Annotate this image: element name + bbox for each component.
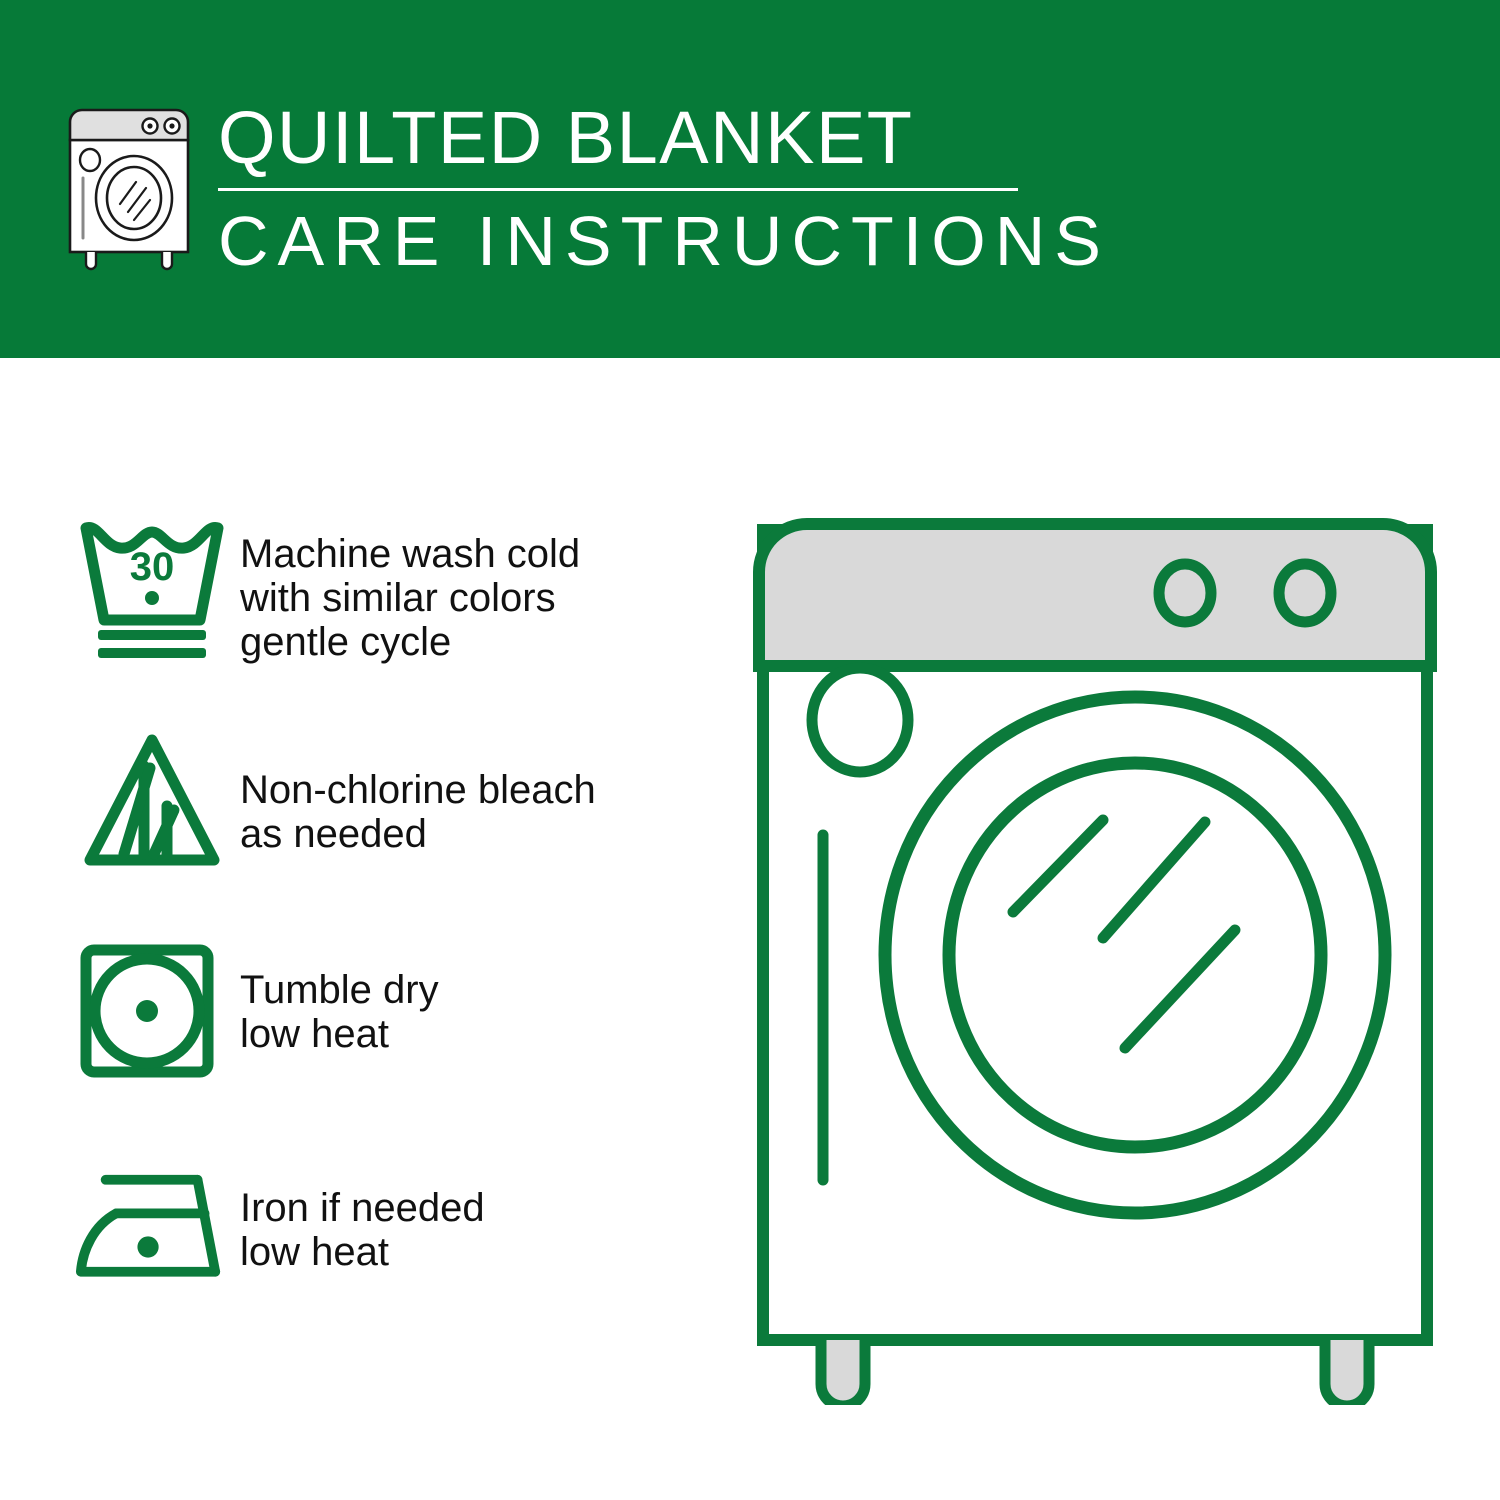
care-row-machine-wash: 30 Machine wash cold with similar colors… [72, 512, 712, 664]
front-load-washing-machine-illustration [745, 500, 1445, 1405]
header-content: QUILTED BLANKET CARE INSTRUCTIONS [62, 96, 1110, 279]
care-text-machine-wash: Machine wash cold with similar colors ge… [240, 512, 712, 664]
care-row-iron: Iron if needed low heat [72, 1154, 712, 1304]
leg-left [821, 1340, 865, 1405]
header-banner: QUILTED BLANKET CARE INSTRUCTIONS [0, 0, 1500, 358]
care-instructions-infographic: QUILTED BLANKET CARE INSTRUCTIONS 30 [0, 0, 1500, 1500]
washing-machine-icon [62, 104, 196, 272]
care-text-iron: Iron if needed low heat [240, 1154, 712, 1274]
page-title-primary: QUILTED BLANKET [218, 96, 1110, 180]
bleach-triangle-stripes-icon [72, 726, 240, 876]
wash-temperature-label: 30 [130, 545, 175, 589]
iron-low-heat-icon [72, 1154, 240, 1304]
care-text-tumble-dry: Tumble dry low heat [240, 938, 712, 1056]
care-text-bleach: Non-chlorine bleach as needed [240, 726, 712, 856]
care-row-tumble-dry: Tumble dry low heat [72, 938, 712, 1088]
leg-right [1325, 1340, 1369, 1405]
knob-left [1159, 564, 1211, 622]
header-title-block: QUILTED BLANKET CARE INSTRUCTIONS [218, 96, 1110, 279]
care-instruction-list: 30 Machine wash cold with similar colors… [72, 512, 712, 1304]
wash-tub-30-gentle-icon: 30 [72, 512, 240, 662]
page-title-secondary: CARE INSTRUCTIONS [218, 203, 1110, 279]
detergent-dispenser-circle [812, 668, 908, 772]
title-divider [218, 188, 1018, 191]
tumble-dry-low-icon [72, 938, 240, 1088]
knob-right [1279, 564, 1331, 622]
care-row-bleach: Non-chlorine bleach as needed [72, 726, 712, 876]
